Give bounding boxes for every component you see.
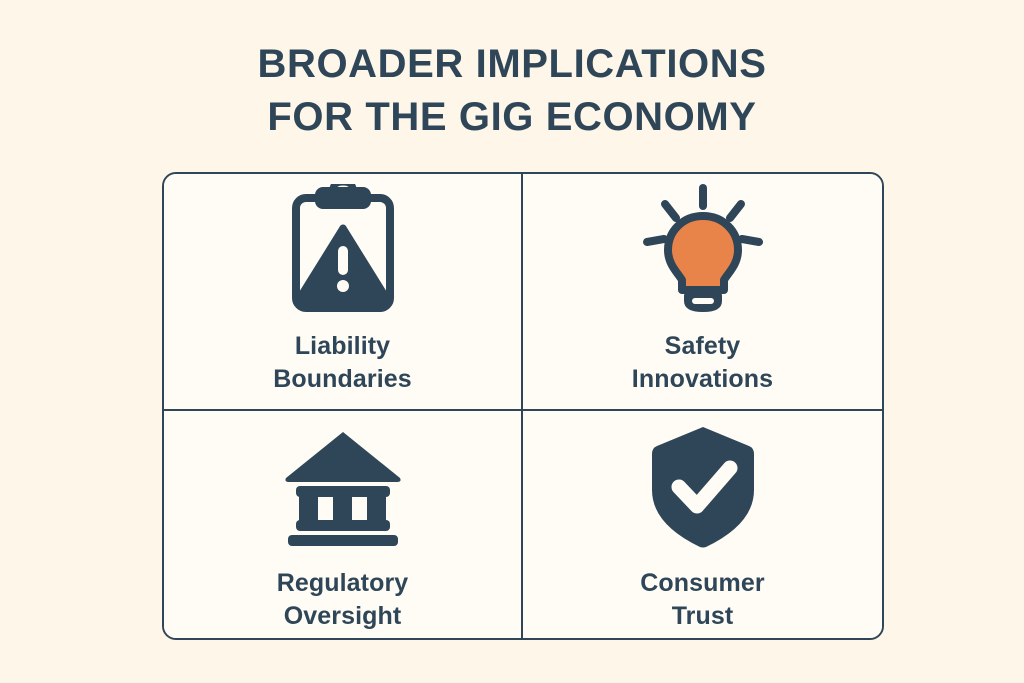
bank-building-icon [282, 421, 404, 553]
grid-cell-label: Regulatory Oversight [277, 567, 409, 634]
grid-cell-label-line-2: Oversight [277, 600, 409, 633]
grid-cell-label: Liability Boundaries [273, 330, 412, 397]
page-title-line-1: BROADER IMPLICATIONS [0, 38, 1024, 91]
grid-cell-safety-innovations[interactable]: Safety Innovations [523, 174, 882, 411]
page-title-line-2: FOR THE GIG ECONOMY [0, 91, 1024, 144]
shield-check-icon [648, 421, 758, 553]
grid-cell-regulatory-oversight[interactable]: Regulatory Oversight [164, 411, 523, 641]
grid-cell-label: Safety Innovations [632, 330, 773, 397]
grid-cell-label: Consumer Trust [640, 567, 764, 634]
grid-cell-consumer-trust[interactable]: Consumer Trust [523, 411, 882, 641]
grid-cell-label-line-2: Innovations [632, 363, 773, 396]
grid-cell-label-line-1: Safety [665, 332, 741, 360]
grid-cell-label-line-1: Liability [295, 332, 390, 360]
grid-cell-label-line-1: Consumer [640, 569, 764, 597]
grid-cell-label-line-2: Boundaries [273, 363, 412, 396]
grid-cell-label-line-2: Trust [640, 600, 764, 633]
clipboard-warning-icon [287, 184, 399, 316]
page-title: BROADER IMPLICATIONS FOR THE GIG ECONOMY [0, 38, 1024, 144]
implications-grid: Liability Boundaries [162, 172, 884, 640]
lightbulb-icon [641, 184, 765, 316]
slide-canvas: BROADER IMPLICATIONS FOR THE GIG ECONOMY [0, 0, 1024, 683]
grid-cell-liability-boundaries[interactable]: Liability Boundaries [164, 174, 523, 411]
grid-cell-label-line-1: Regulatory [277, 569, 409, 597]
